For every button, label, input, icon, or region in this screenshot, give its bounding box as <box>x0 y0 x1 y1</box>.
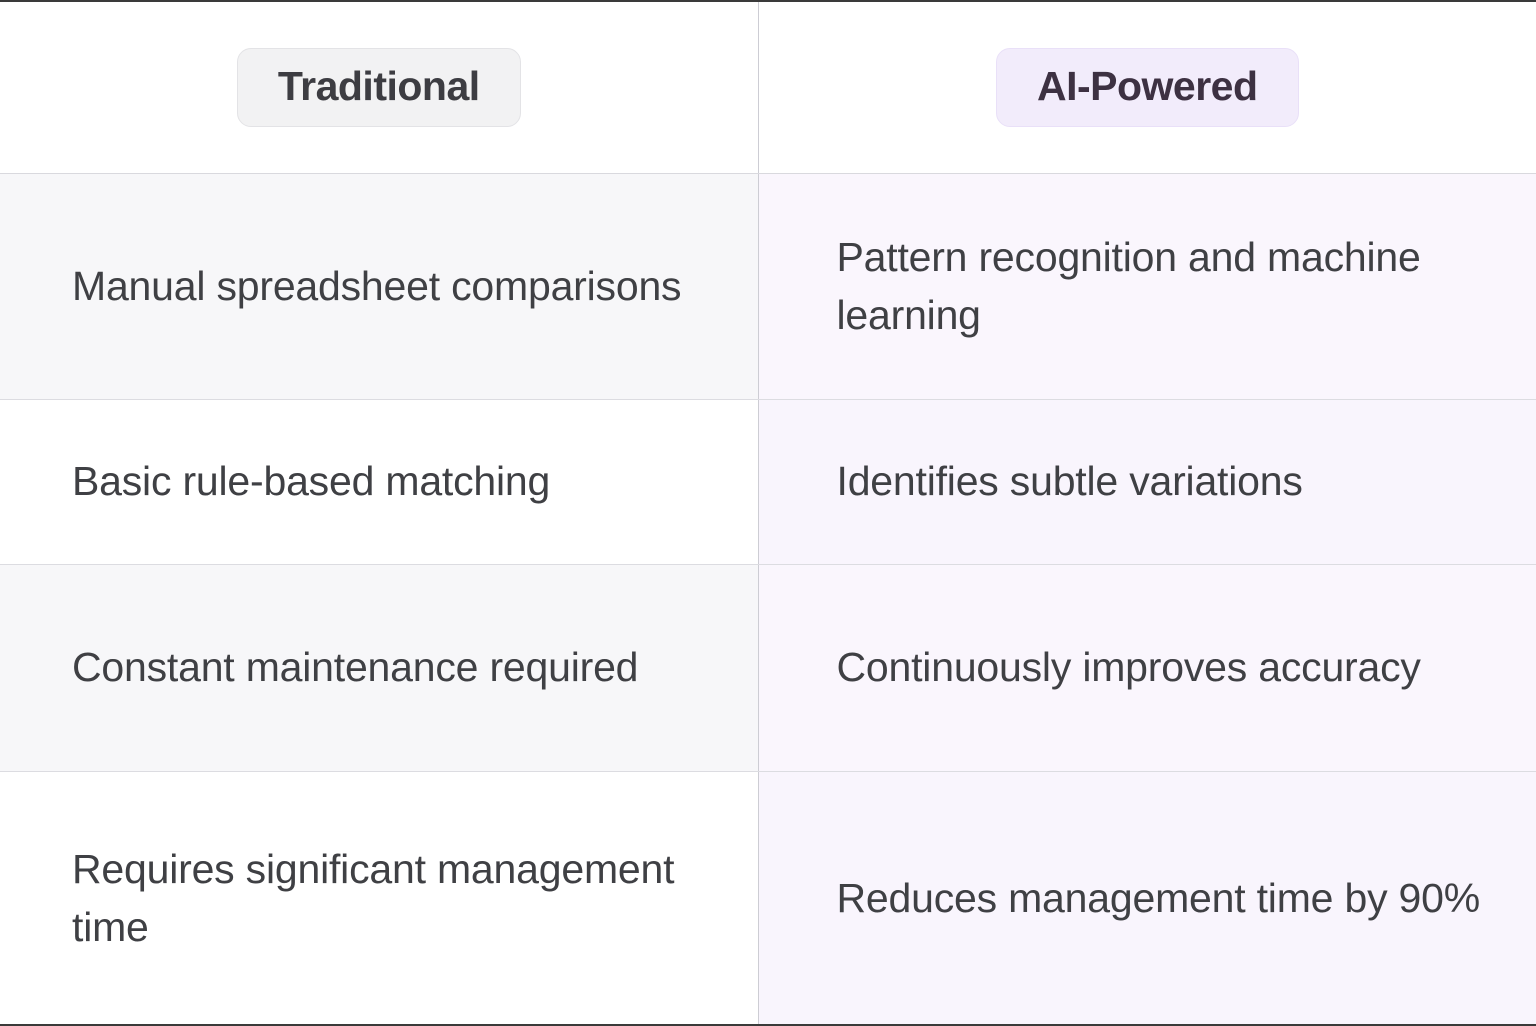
table-row: Requires significant management time Red… <box>0 771 1536 1025</box>
column-header-traditional: Traditional <box>0 1 758 173</box>
cell-traditional-3: Constant maintenance required <box>0 564 758 771</box>
cell-traditional-2: Basic rule-based matching <box>0 399 758 564</box>
table-row: Basic rule-based matching Identifies sub… <box>0 399 1536 564</box>
cell-ai-powered-3: Continuously improves accuracy <box>758 564 1536 771</box>
badge-ai-powered: AI-Powered <box>996 48 1299 127</box>
badge-traditional: Traditional <box>237 48 521 127</box>
table-header: Traditional AI-Powered <box>0 1 1536 173</box>
cell-ai-powered-2: Identifies subtle variations <box>758 399 1536 564</box>
comparison-table: Traditional AI-Powered Manual spreadshee… <box>0 0 1536 1026</box>
table-row: Constant maintenance required Continuous… <box>0 564 1536 771</box>
table-body: Manual spreadsheet comparisons Pattern r… <box>0 173 1536 1025</box>
cell-ai-powered-4: Reduces management time by 90% <box>758 771 1536 1025</box>
header-row: Traditional AI-Powered <box>0 1 1536 173</box>
cell-traditional-1: Manual spreadsheet comparisons <box>0 173 758 399</box>
column-header-ai-powered: AI-Powered <box>758 1 1536 173</box>
cell-traditional-4: Requires significant management time <box>0 771 758 1025</box>
cell-ai-powered-1: Pattern recognition and machine learning <box>758 173 1536 399</box>
table-row: Manual spreadsheet comparisons Pattern r… <box>0 173 1536 399</box>
